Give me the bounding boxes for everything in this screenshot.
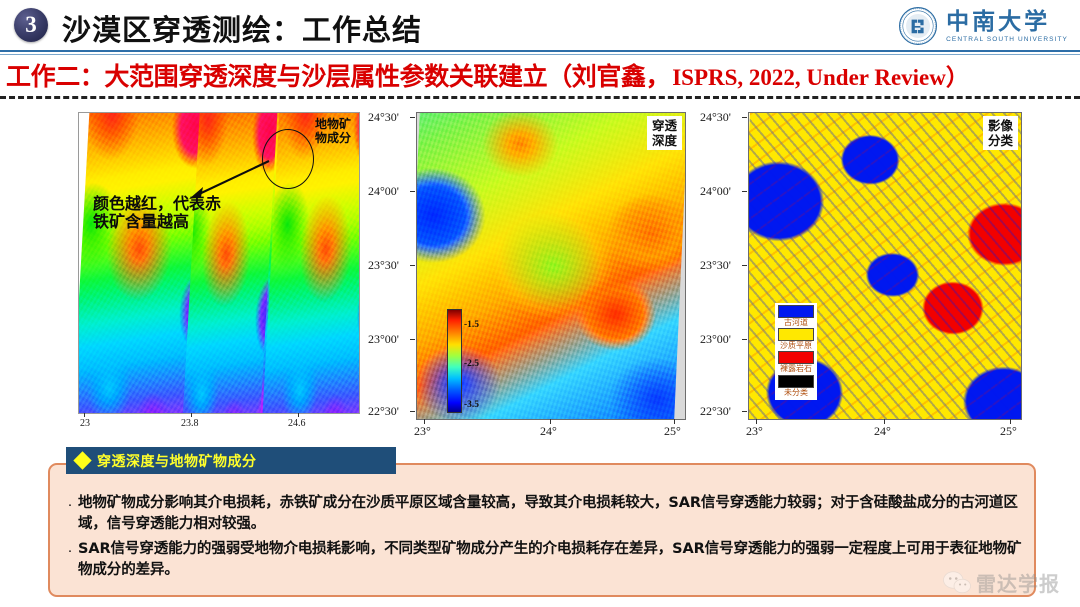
depth-panel-caption: 穿透 深度 [647, 116, 682, 150]
legend-item: 未分类 [778, 375, 814, 397]
classification-panel-caption: 影像 分类 [983, 116, 1018, 150]
header-divider-primary [0, 50, 1080, 52]
mineral-circle-label: 地物矿 物成分 [315, 118, 351, 146]
diamond-bullet-icon [73, 451, 91, 469]
depth-colorbar-label-1: -2.5 [464, 359, 479, 369]
list-item: · 地物矿物成分影响其介电损耗，赤铁矿成分在沙质平原区域含量较高，导致其介电损耗… [62, 493, 1022, 535]
bullet-text-0: 地物矿物成分影响其介电损耗，赤铁矿成分在沙质平原区域含量较高，导致其介电损耗较大… [78, 493, 1022, 535]
subtitle-chinese: 工作二：大范围穿透深度与沙层属性参数关联建立（刘官鑫， [6, 58, 670, 92]
page-title: 沙漠区穿透测绘：工作总结 [62, 7, 422, 49]
legend-item: 沙质平原 [778, 328, 814, 350]
class-xtick-label-1: 24° [874, 424, 891, 439]
legend-swatch-ancient-riverbed [778, 305, 814, 318]
class-xtick-label-2: 25° [1000, 424, 1017, 439]
depth-ytick-mark-1 [410, 191, 415, 192]
class-ytick-mark-4 [742, 411, 747, 412]
list-item: · SAR信号穿透能力的强弱受地物介电损耗影响，不同类型矿物成分产生的介电损耗存… [62, 539, 1022, 581]
slide-root: 3 沙漠区穿透测绘：工作总结 中南大学 CENTRAL SOUTH UNIVER… [0, 0, 1080, 607]
subtitle-citation: ISPRS, 2022, Under Review） [672, 58, 969, 92]
section-number-badge: 3 [14, 8, 48, 42]
depth-xtick-label-0: 23° [414, 424, 431, 439]
class-ytick-mark-0 [742, 117, 747, 118]
class-ytick-label-0: 24°30' [700, 110, 731, 125]
mineral-plot-area: 颜色越红，代表赤 铁矿含量越高 [78, 112, 360, 414]
csu-seal-icon [898, 6, 938, 46]
figure-image-classification: 古河道 沙质平原 裸露岩石 未分类 影像 [700, 112, 1030, 444]
mineral-xtick-mark-1 [191, 413, 192, 417]
depth-ytick-label-2: 23°30' [368, 258, 399, 273]
class-ytick-label-3: 23°00' [700, 332, 731, 347]
depth-ytick-mark-3 [410, 339, 415, 340]
mineral-xtick-mark-2 [298, 413, 299, 417]
legend-item: 古河道 [778, 305, 814, 327]
slide-header: 3 沙漠区穿透测绘：工作总结 中南大学 CENTRAL SOUTH UNIVER… [0, 0, 1080, 52]
figure-penetration-depth: -1.5 -2.5 -3.5 穿透 深度 24°30' 24°00' 23°30… [372, 112, 690, 444]
classification-plot-area: 古河道 沙质平原 裸露岩石 未分类 影像 [748, 112, 1022, 420]
logo-english-name: CENTRAL SOUTH UNIVERSITY [946, 36, 1068, 43]
class-ytick-mark-2 [742, 265, 747, 266]
depth-xtick-label-2: 25° [664, 424, 681, 439]
legend-item: 裸露岩石 [778, 351, 814, 373]
subtitle-bar: 工作二：大范围穿透深度与沙层属性参数关联建立（刘官鑫， ISPRS, 2022,… [6, 58, 1078, 92]
header-divider-secondary [0, 54, 1080, 55]
class-xtick-label-0: 23° [746, 424, 763, 439]
legend-label-unclassified: 未分类 [784, 388, 808, 397]
legend-label-exposed-rock: 裸露岩石 [780, 364, 812, 373]
summary-callout-box: · 地物矿物成分影响其介电损耗，赤铁矿成分在沙质平原区域含量较高，导致其介电损耗… [48, 463, 1036, 597]
legend-swatch-sandy-plain [778, 328, 814, 341]
summary-bullet-list: · 地物矿物成分影响其介电损耗，赤铁矿成分在沙质平原区域含量较高，导致其介电损耗… [62, 493, 1022, 585]
mineral-annotation-text: 颜色越红，代表赤 铁矿含量越高 [93, 195, 221, 231]
figure-mineral-composition: 颜色越红，代表赤 铁矿含量越高 地物矿 物成分 23 23.8 24.6 [78, 112, 358, 442]
depth-ytick-mark-2 [410, 265, 415, 266]
mineral-xtick-label-1: 23.8 [181, 418, 199, 429]
class-ytick-mark-3 [742, 339, 747, 340]
depth-ytick-label-3: 23°00' [368, 332, 399, 347]
mineral-xtick-mark-0 [84, 413, 85, 417]
class-ytick-label-1: 24°00' [700, 184, 731, 199]
class-ytick-mark-1 [742, 191, 747, 192]
class-ytick-label-2: 23°30' [700, 258, 731, 273]
mineral-xtick-label-2: 24.6 [288, 418, 306, 429]
classification-legend: 古河道 沙质平原 裸露岩石 未分类 [775, 303, 817, 400]
depth-ytick-mark-4 [410, 411, 415, 412]
depth-colorbar [447, 309, 462, 413]
depth-plot-area: -1.5 -2.5 -3.5 穿透 深度 [416, 112, 686, 420]
bullet-text-1: SAR信号穿透能力的强弱受地物介电损耗影响，不同类型矿物成分产生的介电损耗存在差… [78, 539, 1022, 581]
callout-section-tab: 穿透深度与地物矿物成分 [66, 447, 396, 474]
legend-swatch-exposed-rock [778, 351, 814, 364]
legend-label-ancient-riverbed: 古河道 [784, 318, 808, 327]
legend-swatch-unclassified [778, 375, 814, 388]
depth-colorbar-label-0: -1.5 [464, 320, 479, 330]
depth-ytick-label-1: 24°00' [368, 184, 399, 199]
depth-xtick-label-1: 24° [540, 424, 557, 439]
logo-text-group: 中南大学 CENTRAL SOUTH UNIVERSITY [946, 10, 1068, 43]
subtitle-dashed-divider [0, 96, 1080, 99]
callout-tab-title: 穿透深度与地物矿物成分 [97, 451, 257, 471]
bullet-marker-1: · [62, 539, 78, 562]
depth-colorbar-label-2: -3.5 [464, 400, 479, 410]
legend-label-sandy-plain: 沙质平原 [780, 341, 812, 350]
bullet-marker-0: · [62, 493, 78, 516]
figure-row: 颜色越红，代表赤 铁矿含量越高 地物矿 物成分 23 23.8 24.6 -1.… [0, 104, 1080, 444]
depth-ytick-label-0: 24°30' [368, 110, 399, 125]
university-logo: 中南大学 CENTRAL SOUTH UNIVERSITY [898, 4, 1068, 48]
depth-ytick-label-4: 22°30' [368, 404, 399, 419]
class-ytick-label-4: 22°30' [700, 404, 731, 419]
logo-chinese-name: 中南大学 [946, 10, 1068, 33]
mineral-xtick-label-0: 23 [80, 418, 90, 429]
depth-ytick-mark-0 [410, 117, 415, 118]
